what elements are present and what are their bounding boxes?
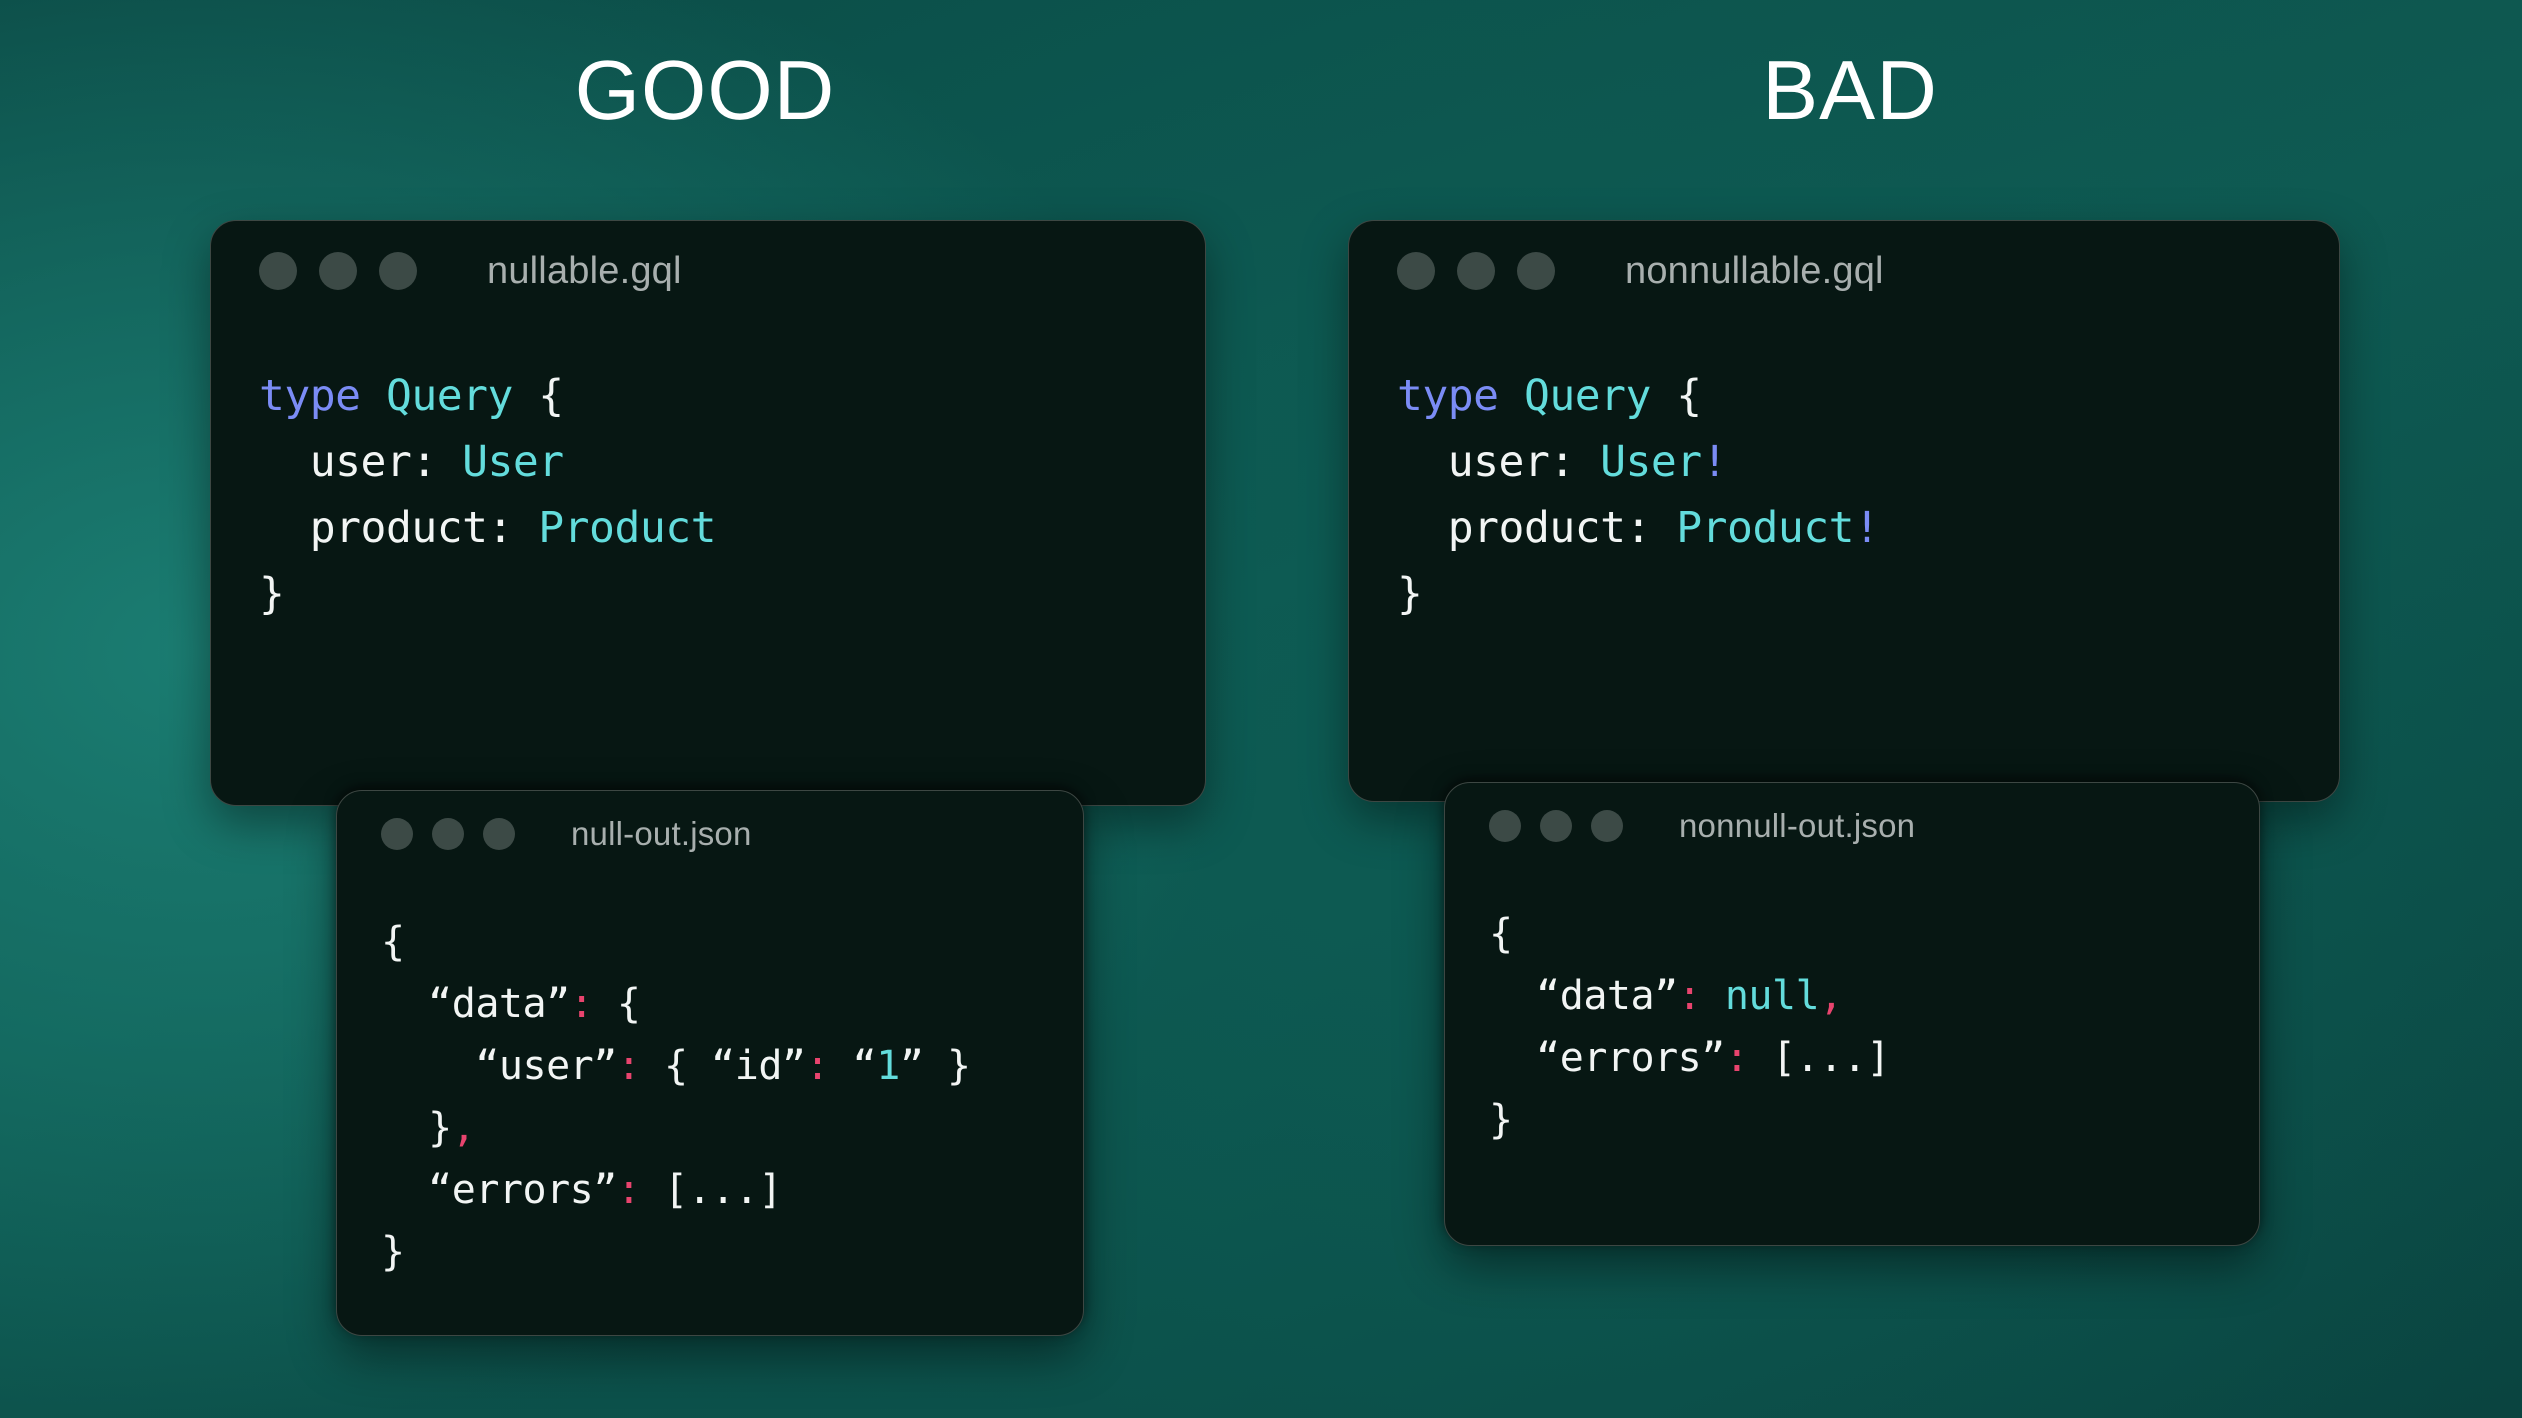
code-token: [437, 437, 462, 487]
code-content: { “data”: { “user”: { “id”: “1” } }, “er…: [337, 877, 1083, 1283]
code-token: “errors”: [381, 1167, 617, 1213]
code-token: [513, 371, 538, 421]
code-token: product: [259, 503, 488, 553]
code-token: [1701, 973, 1725, 1019]
code-line: “data”: {: [381, 973, 1083, 1035]
code-token: {: [1676, 371, 1701, 421]
code-token: :: [1626, 503, 1651, 553]
code-token: Product: [538, 503, 716, 553]
code-token: }: [1489, 1097, 1513, 1143]
code-content: type Query { user: User product: Product…: [211, 321, 1205, 627]
traffic-light-dots: [1397, 252, 1555, 290]
code-token: User: [1600, 437, 1702, 487]
code-token: type: [259, 371, 361, 421]
code-token: user: [1397, 437, 1549, 487]
code-token: :: [617, 1167, 641, 1213]
code-token: { “id”: [640, 1043, 805, 1089]
minimize-dot[interactable]: [432, 818, 464, 850]
code-line: “user”: { “id”: “1” }: [381, 1035, 1083, 1097]
code-line: type Query {: [259, 363, 1205, 429]
traffic-light-dots: [259, 252, 417, 290]
code-window-nonnullable-gql[interactable]: nonnullable.gql type Query { user: User!…: [1348, 220, 2340, 802]
code-token: 1: [876, 1043, 900, 1089]
close-dot[interactable]: [1489, 810, 1521, 842]
code-token: ,: [1819, 973, 1843, 1019]
code-token: {: [381, 919, 405, 965]
code-token: Query: [1524, 371, 1651, 421]
code-line: user: User: [259, 429, 1205, 495]
minimize-dot[interactable]: [1457, 252, 1495, 290]
code-token: }: [381, 1229, 405, 1275]
code-token: null: [1725, 973, 1819, 1019]
code-token: :: [806, 1043, 830, 1089]
code-token: User: [462, 437, 564, 487]
code-line: }: [381, 1221, 1083, 1283]
code-window-null-out-json[interactable]: null-out.json { “data”: { “user”: { “id”…: [336, 790, 1084, 1336]
code-line: }: [1397, 561, 2339, 627]
minimize-dot[interactable]: [1540, 810, 1572, 842]
code-line: “data”: null,: [1489, 965, 2259, 1027]
code-line: user: User!: [1397, 429, 2339, 495]
code-line: “errors”: [...]: [381, 1159, 1083, 1221]
code-token: “errors”: [1489, 1035, 1725, 1081]
code-token: :: [1549, 437, 1574, 487]
code-token: [1651, 371, 1676, 421]
code-line: }: [259, 561, 1205, 627]
code-token: [...]: [640, 1167, 782, 1213]
code-token: [361, 371, 386, 421]
code-token: “data”: [381, 981, 570, 1027]
code-token: :: [488, 503, 513, 553]
code-token: !: [1854, 503, 1879, 553]
code-line: {: [1489, 903, 2259, 965]
minimize-dot[interactable]: [319, 252, 357, 290]
code-token: [1575, 437, 1600, 487]
window-filename: nonnull-out.json: [1679, 807, 1915, 845]
close-dot[interactable]: [381, 818, 413, 850]
code-token: product: [1397, 503, 1626, 553]
maximize-dot[interactable]: [483, 818, 515, 850]
close-dot[interactable]: [259, 252, 297, 290]
code-token: “: [829, 1043, 876, 1089]
code-token: user: [259, 437, 411, 487]
column-heading-bad: BAD: [1762, 48, 1938, 132]
window-filename: null-out.json: [571, 815, 752, 853]
close-dot[interactable]: [1397, 252, 1435, 290]
window-titlebar: nullable.gql: [211, 221, 1205, 321]
code-line: }: [1489, 1089, 2259, 1151]
code-content: type Query { user: User! product: Produc…: [1349, 321, 2339, 627]
code-line: {: [381, 911, 1083, 973]
code-line: product: Product: [259, 495, 1205, 561]
window-filename: nonnullable.gql: [1625, 250, 1884, 293]
code-window-nullable-gql[interactable]: nullable.gql type Query { user: User pro…: [210, 220, 1206, 806]
code-line: type Query {: [1397, 363, 2339, 429]
code-token: {: [1489, 911, 1513, 957]
code-token: :: [411, 437, 436, 487]
code-line: “errors”: [...]: [1489, 1027, 2259, 1089]
maximize-dot[interactable]: [1591, 810, 1623, 842]
code-token: :: [1725, 1035, 1749, 1081]
code-window-nonnull-out-json[interactable]: nonnull-out.json { “data”: null, “errors…: [1444, 782, 2260, 1246]
code-token: Product: [1676, 503, 1854, 553]
window-titlebar: null-out.json: [337, 791, 1083, 877]
code-token: [1651, 503, 1676, 553]
code-token: {: [538, 371, 563, 421]
code-token: :: [1678, 973, 1702, 1019]
code-token: ,: [452, 1105, 476, 1151]
code-content: { “data”: null, “errors”: [...]}: [1445, 869, 2259, 1151]
code-token: [513, 503, 538, 553]
maximize-dot[interactable]: [379, 252, 417, 290]
code-token: {: [593, 981, 640, 1027]
column-heading-good: GOOD: [575, 48, 836, 132]
code-token: ” }: [900, 1043, 971, 1089]
code-token: “data”: [1489, 973, 1678, 1019]
code-token: [...]: [1748, 1035, 1890, 1081]
window-filename: nullable.gql: [487, 250, 682, 293]
code-token: :: [617, 1043, 641, 1089]
code-token: [1499, 371, 1524, 421]
maximize-dot[interactable]: [1517, 252, 1555, 290]
window-titlebar: nonnullable.gql: [1349, 221, 2339, 321]
code-line: },: [381, 1097, 1083, 1159]
code-token: }: [1397, 569, 1422, 619]
code-token: type: [1397, 371, 1499, 421]
code-line: product: Product!: [1397, 495, 2339, 561]
code-token: !: [1702, 437, 1727, 487]
code-token: }: [381, 1105, 452, 1151]
traffic-light-dots: [1489, 810, 1623, 842]
traffic-light-dots: [381, 818, 515, 850]
comparison-stage: GOOD nullable.gql type Query { user: Use…: [0, 0, 2522, 1418]
window-titlebar: nonnull-out.json: [1445, 783, 2259, 869]
code-token: “user”: [381, 1043, 617, 1089]
code-token: }: [259, 569, 284, 619]
code-token: Query: [386, 371, 513, 421]
code-token: :: [570, 981, 594, 1027]
